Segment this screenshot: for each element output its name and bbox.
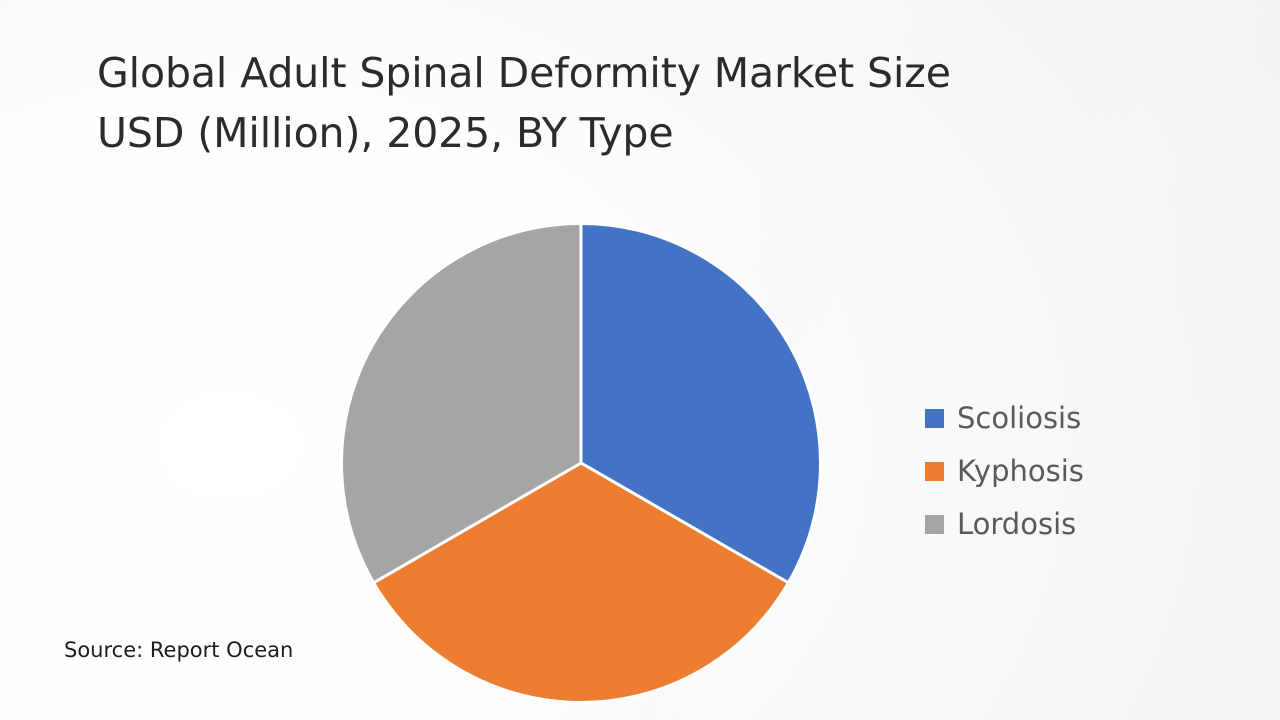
legend-swatch-scoliosis	[925, 409, 944, 428]
legend-item-kyphosis[interactable]: Kyphosis	[925, 445, 1084, 498]
chart-legend: Scoliosis Kyphosis Lordosis	[925, 392, 1084, 551]
legend-item-scoliosis[interactable]: Scoliosis	[925, 392, 1084, 445]
page-title: Global Adult Spinal Deformity Market Siz…	[97, 44, 1107, 164]
legend-swatch-kyphosis	[925, 462, 944, 481]
pie-slice-group	[342, 224, 821, 703]
legend-label-scoliosis: Scoliosis	[957, 404, 1081, 433]
pie-chart	[340, 222, 822, 704]
legend-label-lordosis: Lordosis	[957, 510, 1076, 539]
slide-canvas: Global Adult Spinal Deformity Market Siz…	[0, 0, 1280, 720]
legend-item-lordosis[interactable]: Lordosis	[925, 498, 1084, 551]
legend-swatch-lordosis	[925, 515, 944, 534]
source-note: Source: Report Ocean	[64, 640, 293, 661]
pie-chart-svg	[340, 222, 822, 704]
legend-label-kyphosis: Kyphosis	[957, 457, 1084, 486]
